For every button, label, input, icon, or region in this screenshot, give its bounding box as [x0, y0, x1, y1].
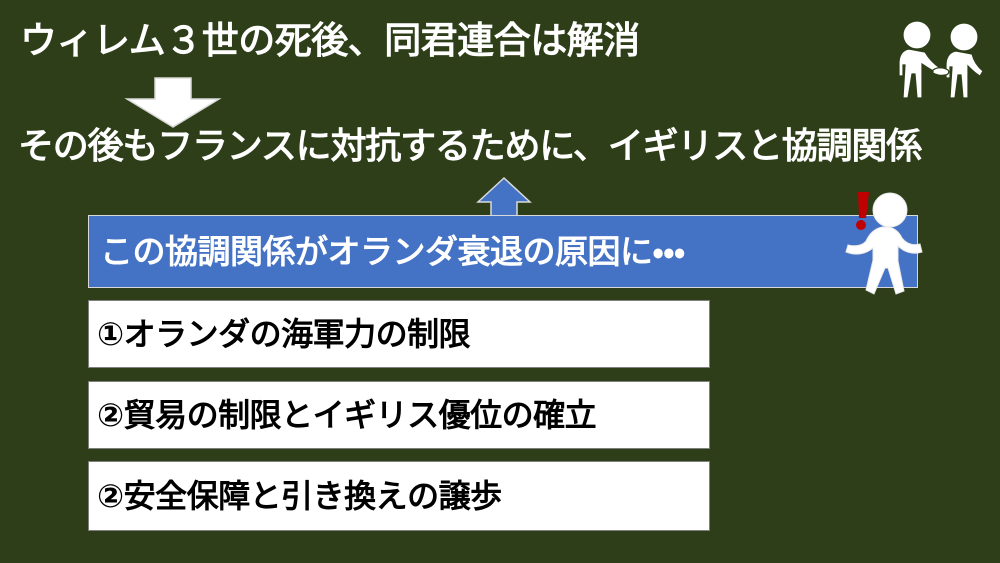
handshake-figures-icon: [892, 18, 992, 100]
headline-line-2: その後もフランスに対抗するために、イギリスと協調関係: [18, 129, 921, 165]
highlight-banner: この協調関係がオランダ衰退の原因に・・・: [88, 215, 918, 288]
list-item: ②貿易の制限とイギリス優位の確立: [88, 381, 710, 449]
list-item: ①オランダの海軍力の制限: [88, 300, 710, 368]
list-item-label: ②貿易の制限とイギリス優位の確立: [89, 399, 596, 431]
headline-line-1: ウィレム３世の死後、同君連合は解消: [20, 22, 640, 59]
slide-canvas: ウィレム３世の死後、同君連合は解消 その後もフランスに対抗するために、イギリスと…: [0, 0, 1000, 563]
down-arrow-icon: [124, 77, 222, 129]
list-item-label: ②安全保障と引き換えの譲歩: [89, 480, 502, 512]
list-item-label: ①オランダの海軍力の制限: [89, 318, 470, 350]
exclamation-mark-icon: [856, 192, 869, 230]
list-item: ②安全保障と引き換えの譲歩: [88, 461, 710, 531]
alert-person-icon: [840, 188, 932, 296]
highlight-banner-text: この協調関係がオランダ衰退の原因に・・・: [89, 235, 685, 268]
